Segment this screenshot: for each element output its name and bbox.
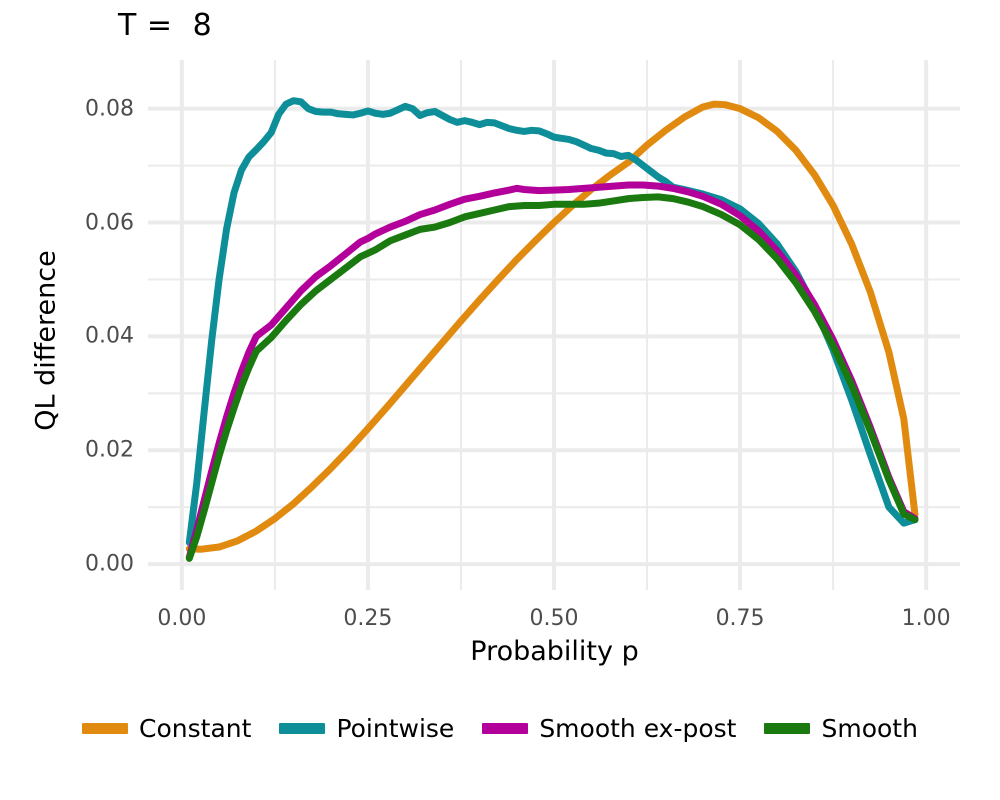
legend-item[interactable]: Constant [82, 714, 251, 743]
y-tick-label: 0.08 [48, 96, 134, 121]
x-tick-label: 0.00 [122, 606, 242, 631]
y-tick-label: 0.04 [48, 324, 134, 349]
x-tick-label: 0.25 [308, 606, 428, 631]
legend-label: Smooth ex-post [539, 714, 736, 743]
x-tick-label: 0.75 [680, 606, 800, 631]
legend-label: Constant [139, 714, 251, 743]
legend-item[interactable]: Smooth [764, 714, 917, 743]
y-tick-label: 0.02 [48, 438, 134, 463]
legend-label: Smooth [821, 714, 917, 743]
y-tick-label: 0.00 [48, 552, 134, 577]
legend-label: Pointwise [336, 714, 454, 743]
x-tick-label: 1.00 [866, 606, 986, 631]
page-title: T = 8 [118, 8, 212, 43]
y-tick-label: 0.06 [48, 210, 134, 235]
legend-key-swatch-icon [482, 723, 528, 734]
legend-item[interactable]: Smooth ex-post [482, 714, 736, 743]
legend-key-swatch-icon [764, 723, 810, 734]
chart-legend: ConstantPointwiseSmooth ex-postSmooth [0, 714, 1000, 743]
plot-area [148, 60, 960, 590]
legend-key-swatch-icon [279, 723, 325, 734]
legend-item[interactable]: Pointwise [279, 714, 454, 743]
chart-figure: T = 8 QL difference 0.000.020.040.060.08… [0, 0, 1000, 800]
x-tick-label: 0.50 [494, 606, 614, 631]
x-axis-title: Probability p [188, 636, 921, 667]
plot-svg [148, 60, 960, 590]
legend-key-swatch-icon [82, 723, 128, 734]
